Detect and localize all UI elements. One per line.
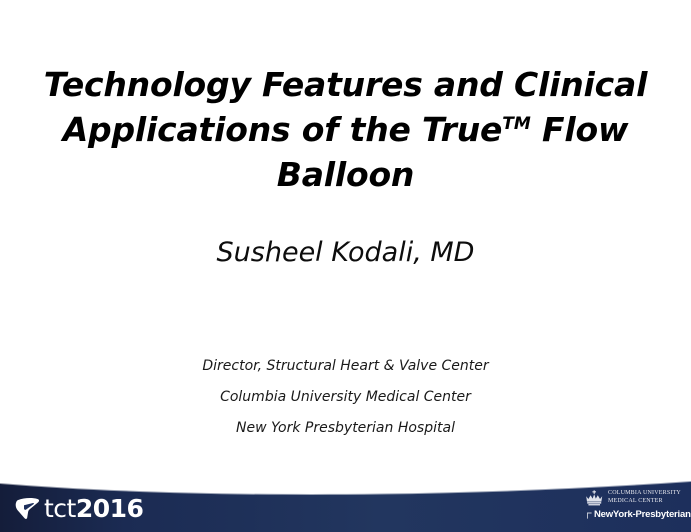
columbia-logo: Columbia University Medical Center [585, 488, 681, 507]
crown-icon [585, 490, 604, 506]
presenter-name: Susheel Kodali, MD [0, 237, 691, 268]
title-line-2a: Applications of the True [63, 110, 503, 149]
nyp-text: NewYork-Presbyterian [594, 510, 691, 520]
columbia-line-1: Columbia University [608, 490, 681, 498]
columbia-text: Columbia University Medical Center [608, 490, 681, 505]
slide-title: Technology Features and Clinical Applica… [0, 62, 691, 197]
tct-wordmark: tct2016 [44, 496, 143, 521]
title-block: Technology Features and Clinical Applica… [0, 62, 691, 197]
columbia-line-2: Medical Center [608, 498, 681, 506]
presentation-slide: Technology Features and Clinical Applica… [0, 0, 691, 532]
affiliation-block: Director, Structural Heart & Valve Cente… [0, 351, 691, 444]
affiliation-line-3: New York Presbyterian Hospital [0, 413, 691, 444]
title-line-1: Technology Features and Clinical [44, 65, 647, 104]
title-line-2b: Flow [531, 110, 629, 149]
nyp-logo: NewYork-Presbyterian [587, 510, 691, 520]
tct-year: 2016 [76, 494, 144, 523]
tct-logo: tct2016 [15, 494, 143, 522]
tct-heart-icon [15, 496, 41, 521]
nyp-bracket-icon [587, 512, 592, 519]
title-line-3: Balloon [277, 155, 414, 194]
affiliation-line-2: Columbia University Medical Center [0, 382, 691, 413]
slide-footer: tct2016 Columbia University Medical Cent… [0, 475, 691, 532]
partner-logos: Columbia University Medical Center NewYo… [585, 488, 691, 528]
trademark-symbol: TM [502, 114, 531, 134]
affiliation-line-1: Director, Structural Heart & Valve Cente… [0, 351, 691, 382]
tct-text: tct [44, 494, 76, 523]
